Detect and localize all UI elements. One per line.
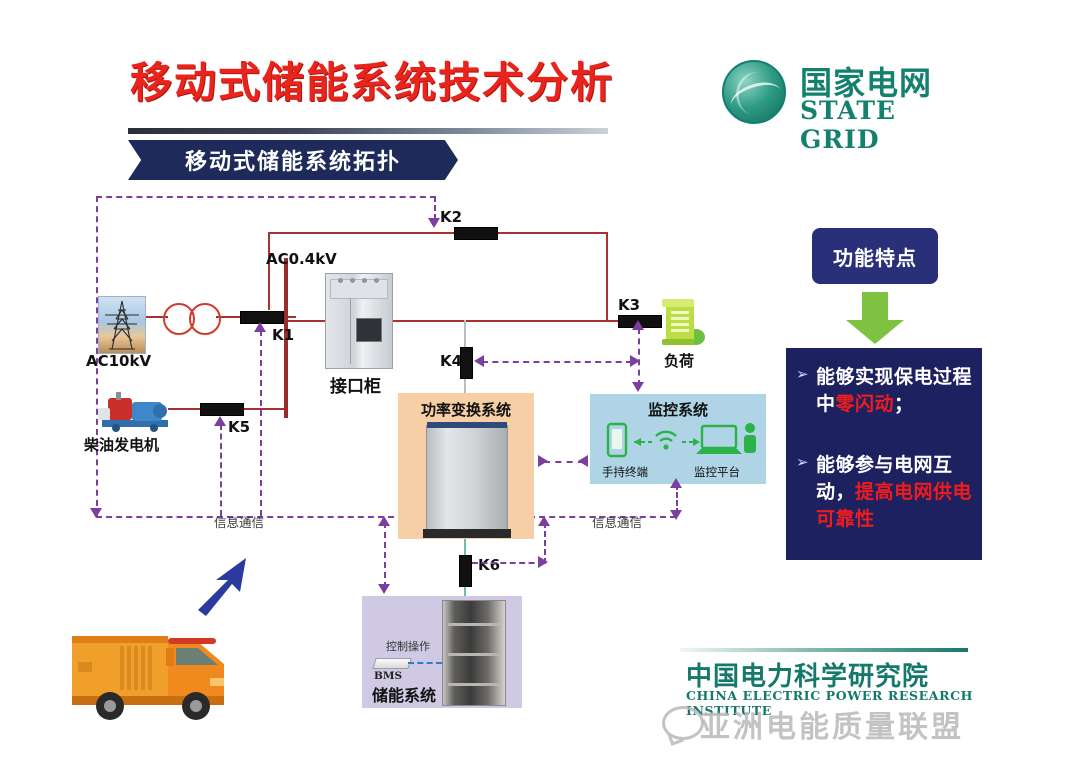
- bullet-marker-icon: ➢: [796, 364, 816, 418]
- state-grid-logo: 国家电网 STATE GRID: [722, 58, 972, 130]
- pcs-cabinet-image: [426, 425, 508, 531]
- pcs-label: 功率变换系统: [398, 399, 534, 420]
- comm-arrow-ess-down: [378, 584, 390, 594]
- bms-device-icon: [372, 658, 412, 669]
- comm-arrow-k6-up: [538, 516, 550, 526]
- green-down-arrow-icon: [838, 292, 912, 344]
- bms-label: BMS: [374, 670, 402, 682]
- ess-block: 控制操作 BMS 储能系统: [362, 596, 522, 708]
- bus-voltage-label: AC0.4kV: [266, 250, 337, 268]
- comm-arrow-monitoring-top: [632, 382, 644, 392]
- cepri-divider: [680, 648, 968, 652]
- comm-arrow-k5: [214, 416, 226, 426]
- state-grid-globe-icon: [722, 60, 786, 124]
- wechat-icon: [662, 706, 704, 740]
- comm-line-k3-up: [638, 328, 640, 386]
- breaker-k4-label: K4: [440, 352, 462, 370]
- feature-bullet-1: ➢ 能够实现保电过程中零闪动；: [796, 364, 980, 418]
- comm-arrow-k4: [474, 355, 484, 367]
- battery-rack-image: [442, 600, 506, 706]
- comm-arrow-k2: [428, 218, 440, 228]
- page-title: 移动式储能系统技术分析: [130, 60, 614, 106]
- comm-boundary-top: [96, 196, 436, 198]
- comm-line-k6: [472, 562, 544, 564]
- section-banner: 移动式储能系统拓扑: [128, 140, 458, 180]
- pcs-block: 功率变换系统: [398, 393, 534, 539]
- ess-label: 储能系统: [372, 682, 436, 706]
- diesel-generator-icon: [96, 392, 174, 432]
- comm-line-k6-riser: [544, 522, 546, 564]
- handheld-terminal-label: 手持终端: [602, 464, 648, 480]
- breaker-k2-label: K2: [440, 208, 462, 226]
- slide-root: 移动式储能系统技术分析 移动式储能系统拓扑 国家电网 STATE GRID AC…: [0, 0, 1080, 764]
- feature-bullet-1-text: 能够实现保电过程中零闪动；: [816, 364, 980, 418]
- transmission-tower-icon: [98, 296, 146, 354]
- comm-label-right: 信息通信: [592, 512, 642, 531]
- monitoring-platform-label: 监控平台: [694, 464, 740, 480]
- title-divider: [128, 128, 608, 134]
- breaker-k6-label: K6: [478, 556, 500, 574]
- cepri-logo: 中国电力科学研究院 CHINA ELECTRIC POWER RESEARCH …: [680, 648, 980, 708]
- breaker-k3-label: K3: [618, 296, 640, 314]
- interface-cabinet-label: 接口柜: [330, 372, 381, 397]
- breaker-k6: [459, 555, 472, 587]
- breaker-k2: [454, 227, 498, 240]
- watermark-text: 亚洲电能质量联盟: [700, 702, 964, 746]
- control-operation-label: 控制操作: [386, 638, 430, 654]
- comm-arrow-ess-up: [378, 516, 390, 526]
- comm-arrow-bottom-right: [670, 510, 682, 520]
- comm-arrow-k3-up: [632, 320, 644, 330]
- comm-line-k1: [260, 330, 262, 516]
- comm-arrow-monitoring-bottom: [670, 478, 682, 488]
- mobile-power-truck-image: [58, 608, 248, 726]
- state-grid-name-en: STATE GRID: [800, 96, 972, 154]
- comm-line-to-k2: [434, 196, 436, 220]
- wire-bus-to-cabinet: [286, 320, 328, 322]
- comm-arrow-left-down: [90, 508, 102, 518]
- comm-arrow-pcs: [538, 455, 548, 467]
- bms-link-line: [408, 662, 442, 664]
- breaker-k5: [200, 403, 244, 416]
- load-label: 负荷: [664, 350, 694, 371]
- breaker-k5-label: K5: [228, 418, 250, 436]
- monitoring-block: 监控系统 手持终端 监控平台: [590, 394, 766, 484]
- diesel-generator-label: 柴油发电机: [84, 434, 159, 455]
- load-server-icon: [660, 297, 706, 349]
- comm-arrow-k6-right: [538, 556, 548, 568]
- comm-label-left: 信息通信: [214, 512, 264, 531]
- wire-bus-riser: [268, 232, 270, 310]
- comm-arrow-monitoring-left: [578, 455, 588, 467]
- feature-panel: ➢ 能够实现保电过程中零闪动； ➢ 能够参与电网互动，提高电网供电可靠性: [786, 348, 982, 560]
- grid-source-label: AC10kV: [86, 352, 151, 370]
- feature-bullet-2-text: 能够参与电网互动，提高电网供电可靠性: [816, 452, 980, 533]
- wire-top-feeder: [268, 232, 608, 234]
- interface-cabinet-icon: [325, 273, 393, 369]
- feature-bullet-2: ➢ 能够参与电网互动，提高电网供电可靠性: [796, 452, 980, 533]
- comm-line-k4-k3: [482, 361, 632, 363]
- feature-heading: 功能特点: [812, 228, 938, 284]
- transformer-icon: [163, 303, 221, 331]
- comm-line-k5: [220, 424, 222, 516]
- comm-arrow-k1: [254, 322, 266, 332]
- bullet-marker-icon-2: ➢: [796, 452, 816, 533]
- wire-top-dropper: [606, 232, 608, 320]
- breaker-k1-label: K1: [272, 326, 294, 344]
- comm-line-ess: [384, 522, 386, 588]
